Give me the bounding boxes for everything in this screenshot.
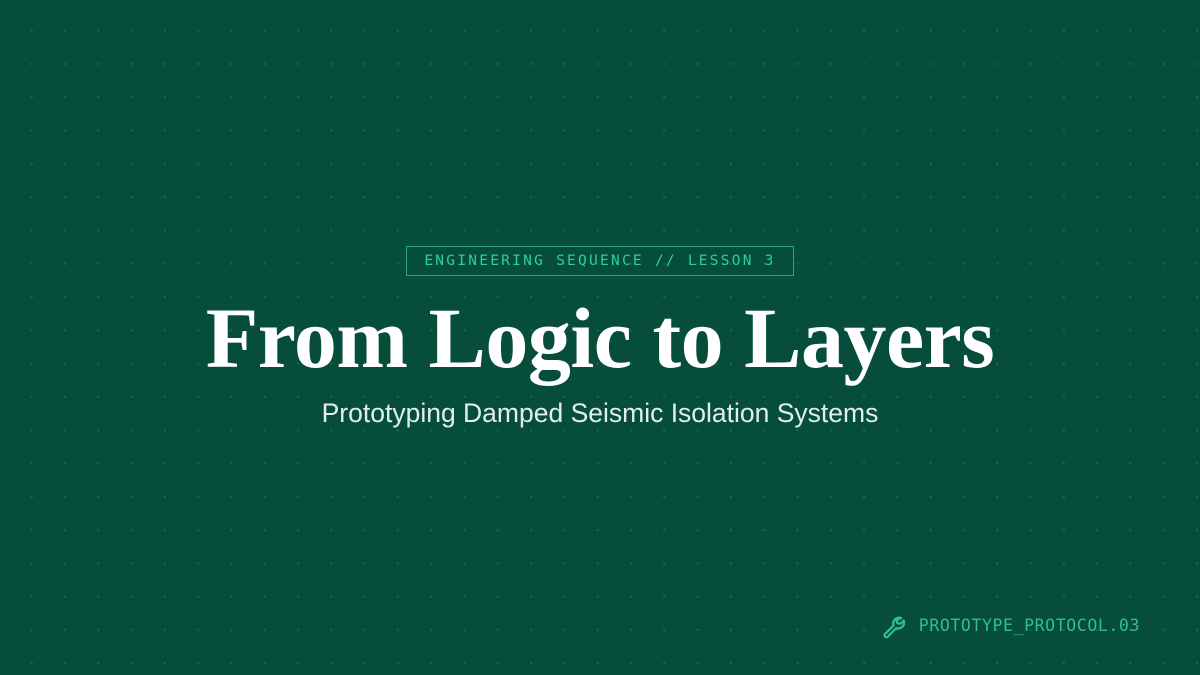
presentation-slide: ENGINEERING SEQUENCE // LESSON 3 From Lo…	[0, 0, 1200, 675]
slide-title: From Logic to Layers	[206, 295, 995, 381]
footer-protocol-label: PROTOTYPE_PROTOCOL.03	[919, 618, 1140, 635]
lesson-eyebrow-badge: ENGINEERING SEQUENCE // LESSON 3	[406, 246, 793, 276]
lesson-eyebrow-label: ENGINEERING SEQUENCE // LESSON 3	[424, 254, 775, 269]
slide-subtitle: Prototyping Damped Seismic Isolation Sys…	[322, 398, 879, 430]
slide-content: ENGINEERING SEQUENCE // LESSON 3 From Lo…	[0, 0, 1200, 675]
footer-stamp: PROTOTYPE_PROTOCOL.03	[880, 613, 1140, 639]
wrench-icon	[880, 613, 906, 639]
